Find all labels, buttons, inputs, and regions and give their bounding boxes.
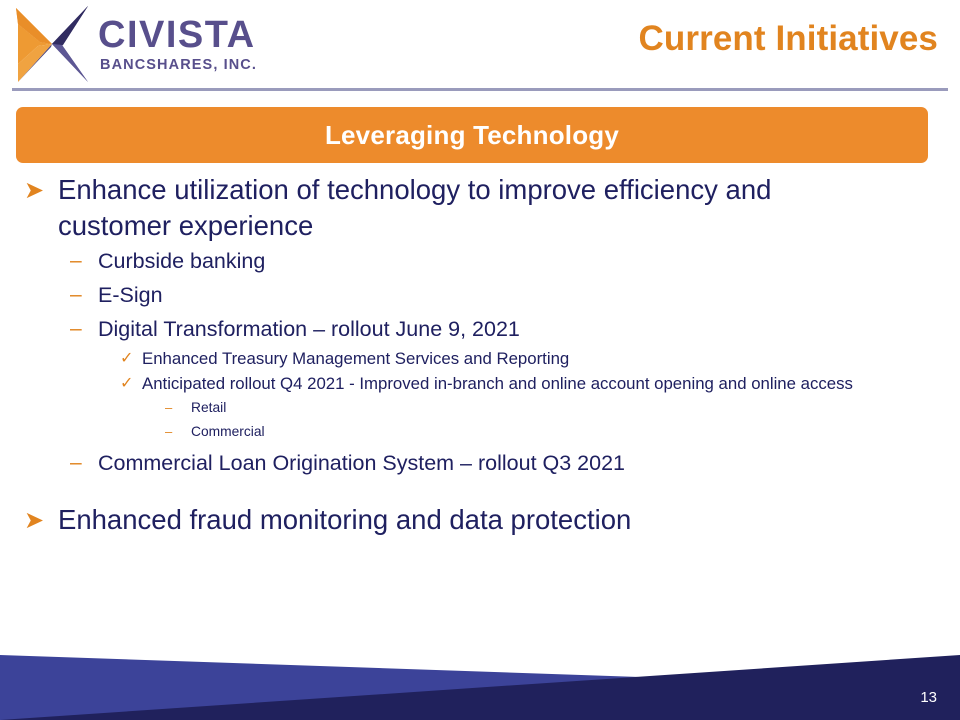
bullet-item-level-2: –E-Sign: [0, 278, 960, 312]
bullet-item-level-2: –Commercial Loan Origination System – ro…: [0, 446, 960, 480]
bullet-text: Commercial: [191, 420, 265, 444]
bullet-text: Enhanced Treasury Management Services an…: [142, 346, 569, 371]
header-divider: [12, 88, 948, 91]
bullet-list: ➤Enhance utilization of technology to im…: [0, 172, 960, 539]
page-number: 13: [920, 689, 937, 706]
slide-header: CIVISTA BANCSHARES, INC. Current Initiat…: [0, 0, 960, 90]
section-banner: Leveraging Technology: [16, 107, 928, 163]
four-pointed-star-icon: [10, 4, 94, 84]
footer-triangles: [0, 630, 960, 720]
bullet-item-level-1: ➤Enhance utilization of technology to im…: [0, 172, 960, 244]
bullet-item-level-2: –Digital Transformation – rollout June 9…: [0, 312, 960, 346]
section-banner-label: Leveraging Technology: [325, 120, 619, 151]
bullet-item-level-3: ✓Enhanced Treasury Management Services a…: [0, 346, 960, 371]
logo-subtitle: BANCSHARES, INC.: [100, 58, 257, 73]
civista-logo: CIVISTA BANCSHARES, INC.: [10, 4, 257, 84]
bullet-text: Enhanced fraud monitoring and data prote…: [58, 502, 631, 538]
slide: CIVISTA BANCSHARES, INC. Current Initiat…: [0, 0, 960, 720]
bullet-item-level-2: –Curbside banking: [0, 244, 960, 278]
page-title: Current Initiatives: [639, 19, 938, 59]
dash-bullet-icon: –: [70, 446, 98, 480]
footer-decoration: 13: [0, 630, 960, 720]
bullet-text: Retail: [191, 396, 226, 420]
dash-bullet-icon: –: [70, 244, 98, 278]
bullet-item-level-4: –Retail: [0, 396, 960, 420]
bullet-text: Curbside banking: [98, 244, 265, 278]
bullet-item-level-4: –Commercial: [0, 420, 960, 444]
dash-bullet-icon: –: [165, 396, 191, 420]
check-bullet-icon: ✓: [120, 371, 142, 396]
bullet-text: Anticipated rollout Q4 2021 - Improved i…: [142, 371, 853, 396]
dash-bullet-icon: –: [165, 420, 191, 444]
arrow-bullet-icon: ➤: [24, 172, 58, 209]
bullet-item-level-1: ➤Enhanced fraud monitoring and data prot…: [0, 502, 960, 539]
bullet-text: Enhance utilization of technology to imp…: [58, 172, 848, 244]
dash-bullet-icon: –: [70, 312, 98, 346]
check-bullet-icon: ✓: [120, 346, 142, 371]
bullet-item-level-3: ✓Anticipated rollout Q4 2021 - Improved …: [0, 371, 960, 396]
logo-wordmark: CIVISTA BANCSHARES, INC.: [98, 16, 257, 73]
bullet-text: Digital Transformation – rollout June 9,…: [98, 312, 520, 346]
arrow-bullet-icon: ➤: [24, 502, 58, 539]
bullet-text: E-Sign: [98, 278, 163, 312]
dash-bullet-icon: –: [70, 278, 98, 312]
logo-name: CIVISTA: [98, 16, 257, 54]
bullet-text: Commercial Loan Origination System – rol…: [98, 446, 625, 480]
